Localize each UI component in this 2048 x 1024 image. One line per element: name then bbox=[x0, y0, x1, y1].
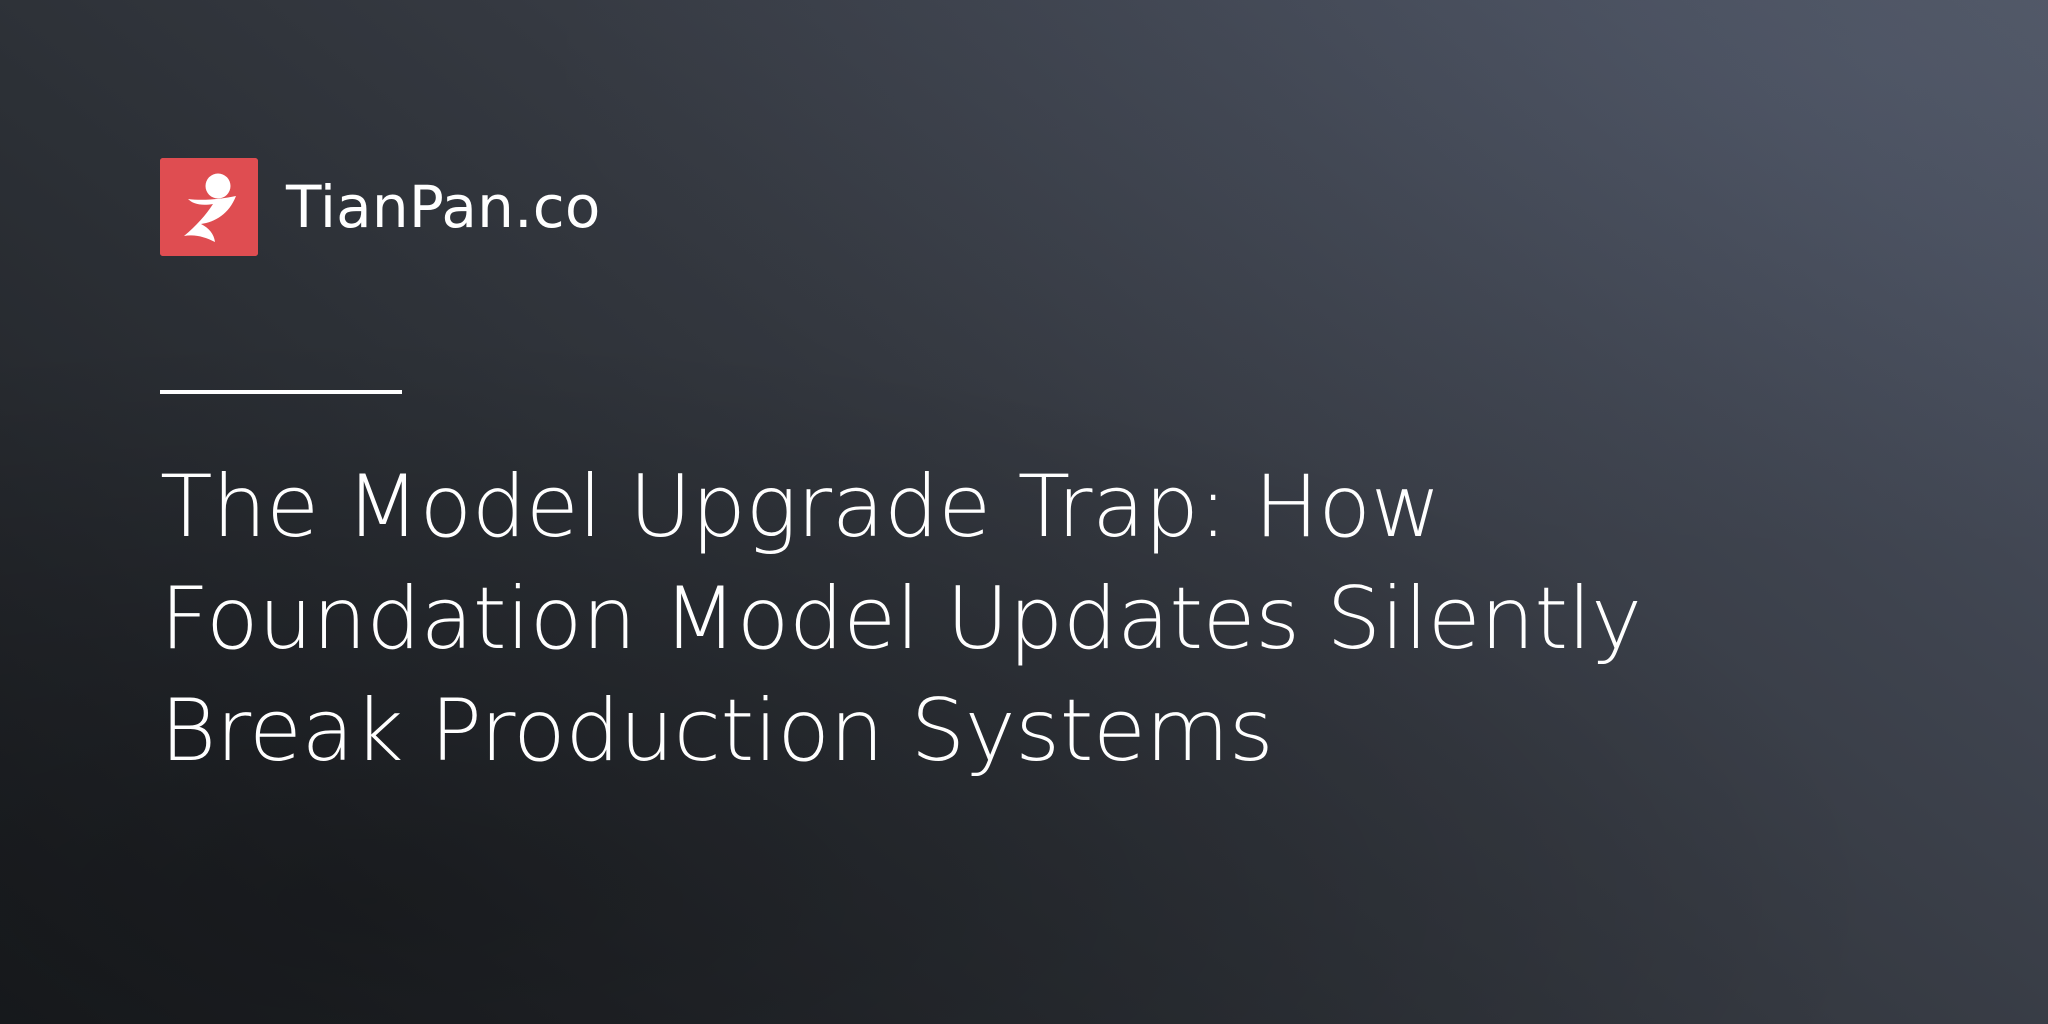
cover-content: TianPan.co The Model Upgrade Trap: How F… bbox=[160, 0, 1920, 1024]
tianpan-running-figure-icon bbox=[160, 158, 258, 256]
page-title: The Model Upgrade Trap: How Foundation M… bbox=[160, 452, 1720, 787]
page-title-line-1: The Model Upgrade Trap: How bbox=[160, 452, 1720, 564]
brand-lockup[interactable]: TianPan.co bbox=[160, 158, 601, 256]
page-title-line-2: Foundation Model Updates Silently bbox=[160, 564, 1720, 676]
page-title-line-3: Break Production Systems bbox=[160, 676, 1720, 788]
cover-canvas: TianPan.co The Model Upgrade Trap: How F… bbox=[0, 0, 2048, 1024]
brand-name: TianPan.co bbox=[286, 178, 601, 236]
divider-rule bbox=[160, 390, 402, 394]
